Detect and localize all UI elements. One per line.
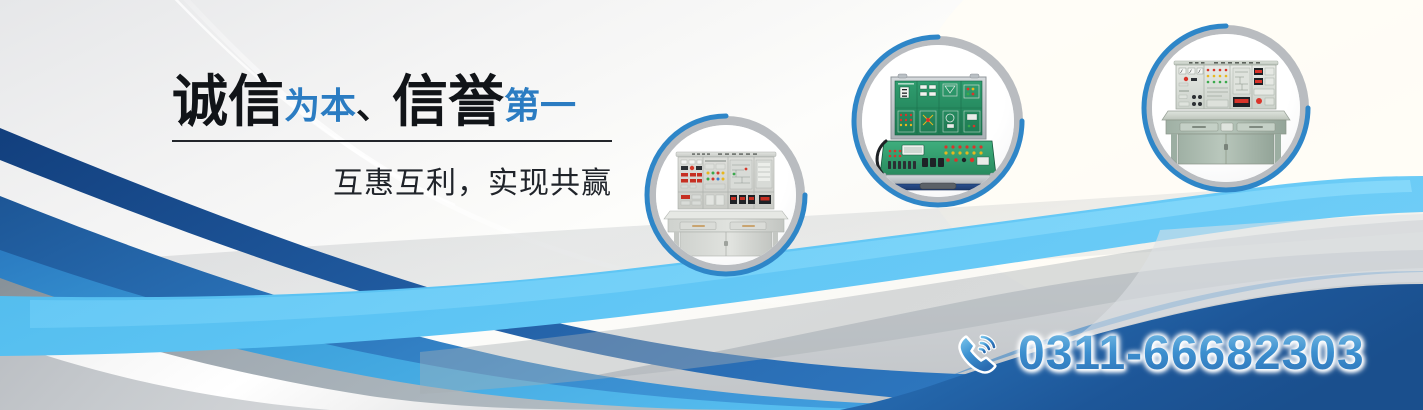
photo-circle-control-bench xyxy=(1152,34,1300,182)
contact-block[interactable]: 0311-66682303 xyxy=(952,326,1365,381)
headline-seg-5: 第一 xyxy=(504,85,576,126)
headline: 诚信为本、信誉第一 xyxy=(172,72,620,132)
photo-inner-workbench xyxy=(656,125,796,265)
phone-ringing-icon xyxy=(952,328,1004,380)
headline-seg-2: 为本 xyxy=(284,85,356,126)
promo-banner: 诚信为本、信誉第一 互惠互利，实现共赢 xyxy=(0,0,1423,410)
control-bench-illustration xyxy=(1152,34,1300,182)
workbench-illustration xyxy=(656,125,796,265)
headline-divider xyxy=(172,140,612,142)
headline-seg-1: 诚信 xyxy=(172,70,284,133)
photo-inner-control-bench xyxy=(1152,34,1300,182)
phone-number[interactable]: 0311-66682303 xyxy=(1018,326,1365,381)
training-case-illustration xyxy=(862,45,1014,197)
photo-circle-workbench xyxy=(656,125,796,265)
photo-circle-training-case xyxy=(862,45,1014,197)
headline-seg-3: 、 xyxy=(356,85,392,126)
headline-seg-4: 信誉 xyxy=(392,70,504,133)
slogan-block: 诚信为本、信誉第一 互惠互利，实现共赢 xyxy=(172,72,620,202)
photo-inner-training-case xyxy=(862,45,1014,197)
subline: 互惠互利，实现共赢 xyxy=(172,158,612,202)
